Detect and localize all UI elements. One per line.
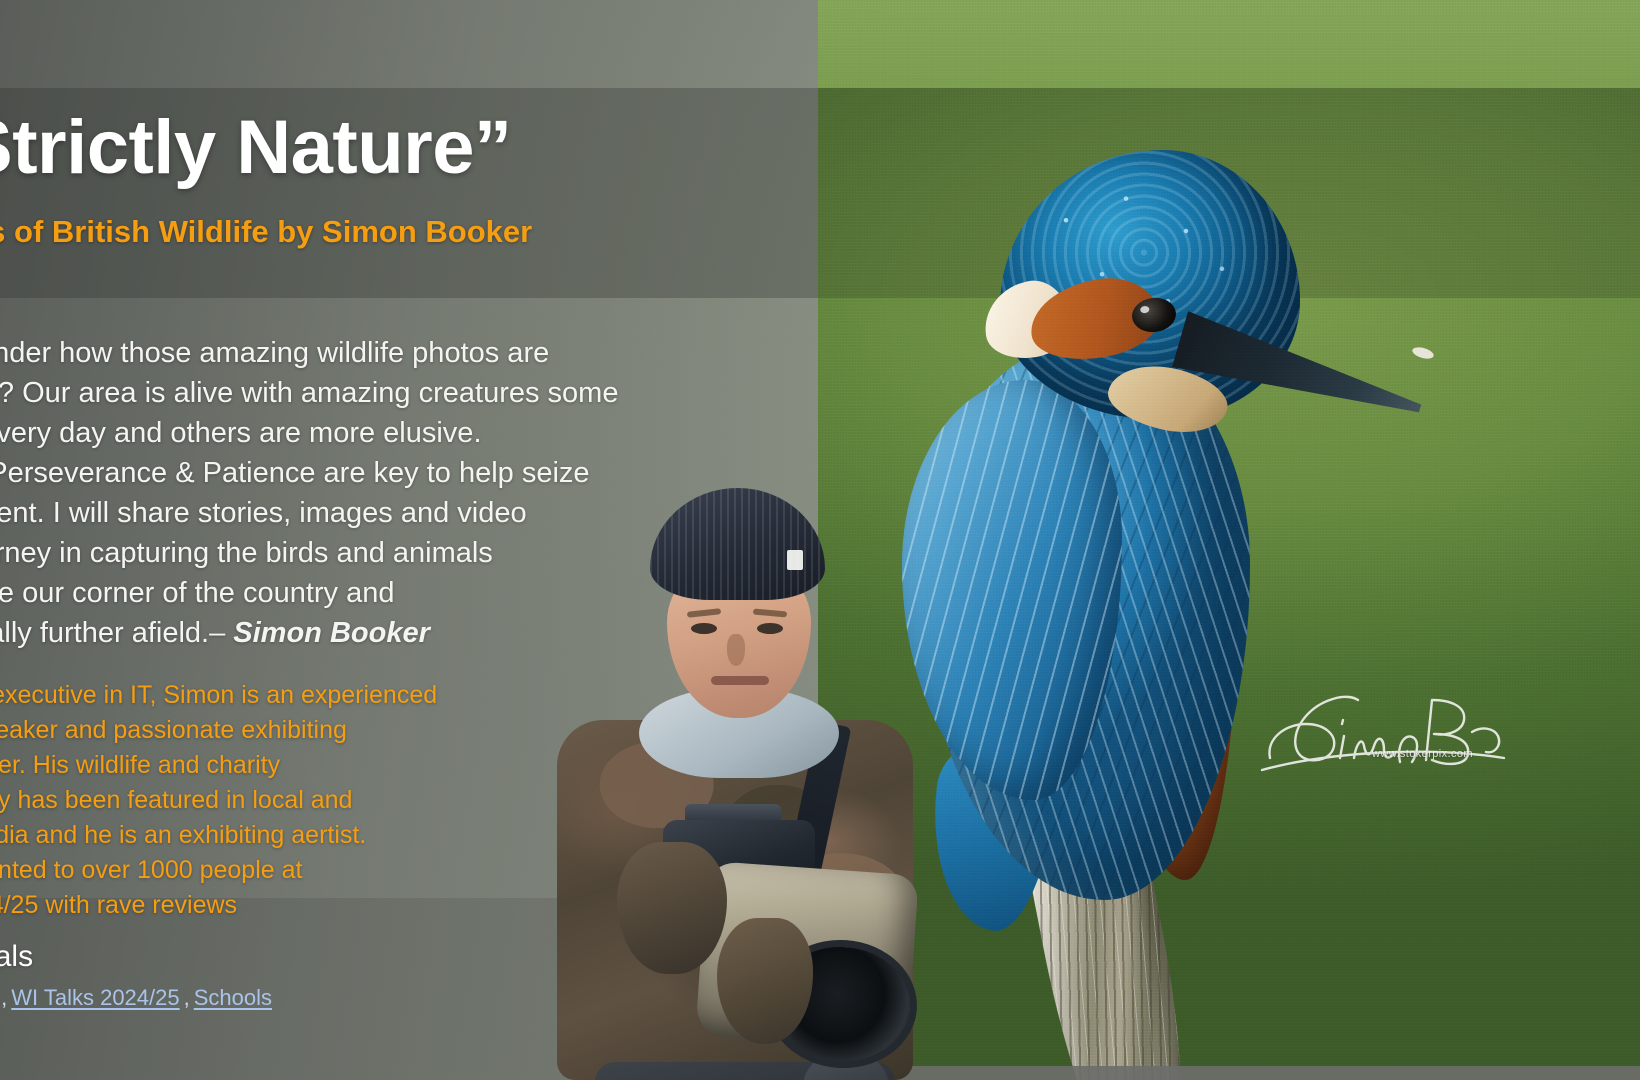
bottom-grey-strip <box>818 1066 1640 1080</box>
kingfisher-photo <box>880 130 1440 1080</box>
watermark-url: www.stokerpix.com <box>1372 748 1473 760</box>
description-paragraph: wonder how those amazing wildlife photos… <box>0 333 836 653</box>
link-separator: , <box>180 985 194 1010</box>
testimonial-links-row: alks,WI Talks 2024/25,Schools <box>0 985 272 1011</box>
description-text: wonder how those amazing wildlife photos… <box>0 337 618 649</box>
slide-text-content: Strictly Nature” ges of British Wildlife… <box>0 0 818 1080</box>
testimonials-heading: nonials <box>0 940 33 974</box>
page-subtitle: ges of British Wildlife by Simon Booker <box>0 214 852 250</box>
page-title: Strictly Nature” <box>0 104 822 191</box>
slide-canvas: www.stokerpix.com Strictly Nature” ges o… <box>0 0 1640 1080</box>
testimonial-link[interactable]: Schools <box>194 985 272 1010</box>
biography-paragraph: ear executive in IT, Simon is an experie… <box>0 678 828 923</box>
kingfisher-wing <box>902 380 1122 800</box>
testimonial-link[interactable]: WI Talks 2024/25 <box>11 985 179 1010</box>
background-top-band <box>818 0 1640 88</box>
description-attribution: Simon Booker <box>233 617 430 649</box>
link-separator: , <box>0 985 11 1010</box>
kingfisher-bill-tip <box>1411 345 1435 361</box>
